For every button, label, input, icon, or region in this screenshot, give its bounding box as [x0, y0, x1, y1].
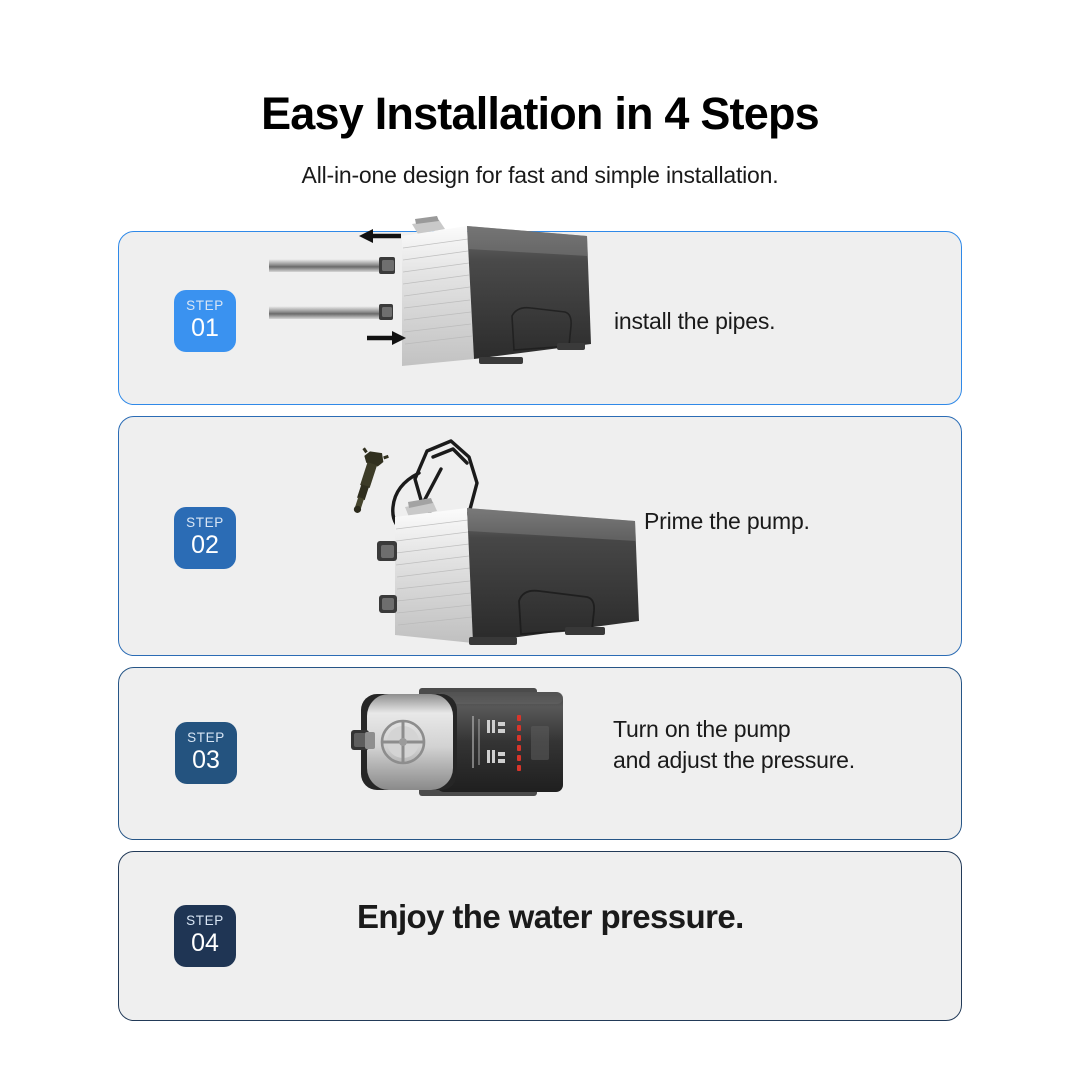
infographic-page: Easy Installation in 4 Steps All-in-one …: [0, 0, 1080, 1080]
header: Easy Installation in 4 Steps All-in-one …: [0, 0, 1080, 189]
step-badge-number: 01: [191, 314, 219, 343]
step-badge-label: STEP: [186, 299, 224, 313]
step-badge-number: 03: [192, 746, 220, 775]
step-badge-3: STEP 03: [175, 722, 237, 784]
step-card-4[interactable]: STEP 04 Enjoy the water pressure.: [118, 851, 962, 1021]
step-badge-2: STEP 02: [174, 507, 236, 569]
step-description-3-line1: Turn on the pump: [613, 714, 855, 745]
step-description-2: Prime the pump.: [644, 506, 810, 537]
step-badge-label: STEP: [186, 516, 224, 530]
step-badge-label: STEP: [186, 914, 224, 928]
page-subtitle: All-in-one design for fast and simple in…: [0, 162, 1080, 189]
pump-side-view-with-pipes-icon: [269, 216, 599, 386]
pump-top-view-icon: [341, 674, 591, 814]
step-description-1: install the pipes.: [614, 306, 775, 337]
step-card-1[interactable]: STEP 01 install the pipes.: [118, 231, 962, 405]
step-card-3[interactable]: STEP 03 Turn on the pump and adjust the …: [118, 667, 962, 840]
step-badge-label: STEP: [187, 731, 225, 745]
step-description-3-line2: and adjust the pressure.: [613, 745, 855, 776]
steps-list: STEP 01 install the pipes.: [118, 231, 962, 1021]
step-badge-1: STEP 01: [174, 290, 236, 352]
step-description-3: Turn on the pump and adjust the pressure…: [613, 714, 855, 776]
step-badge-4: STEP 04: [174, 905, 236, 967]
step-badge-number: 04: [191, 929, 219, 958]
page-title: Easy Installation in 4 Steps: [0, 88, 1080, 140]
step-description-4: Enjoy the water pressure.: [357, 895, 744, 940]
pump-priming-icon: [349, 429, 649, 649]
step-card-2[interactable]: STEP 02 Prime the pump.: [118, 416, 962, 656]
step-badge-number: 02: [191, 531, 219, 560]
